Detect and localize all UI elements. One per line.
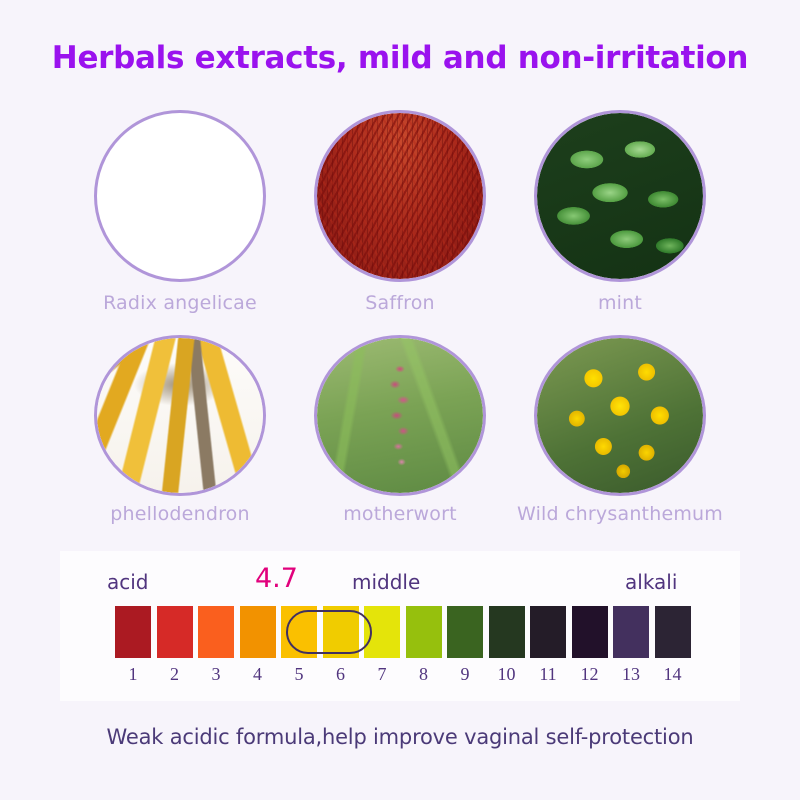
herb-item-radix-angelicae[interactable]: Radix angelicae <box>70 110 290 335</box>
herb-item-mint[interactable]: mint <box>510 110 730 335</box>
ph-scale-card: acid 4.7 middle alkali 12345678910111213… <box>60 551 740 701</box>
herb-item-phellodendron[interactable]: phellodendron <box>70 335 290 525</box>
pink-motherwort-flower-spike-image <box>317 338 483 493</box>
herb-item-wild-chrysanthemum[interactable]: Wild chrysanthemum <box>510 335 730 525</box>
herb-label: Radix angelicae <box>103 292 257 314</box>
herb-label: phellodendron <box>110 503 250 525</box>
page-title: Herbals extracts, mild and non-irritatio… <box>0 40 800 76</box>
green-mint-leaves-image <box>537 113 703 279</box>
ph-color-strip <box>115 606 693 658</box>
ph-swatch-14[interactable] <box>655 606 691 658</box>
herb-image-circle[interactable] <box>94 335 266 496</box>
ph-swatch-2[interactable] <box>157 606 193 658</box>
herb-image-circle[interactable] <box>94 110 266 282</box>
ph-swatch-4[interactable] <box>240 606 276 658</box>
ph-number-13: 13 <box>613 664 649 690</box>
ph-number-4: 4 <box>240 664 276 690</box>
dried-angelica-root-slices-image <box>97 113 263 279</box>
ph-number-7: 7 <box>364 664 400 690</box>
yellow-wild-chrysanthemum-flowers-image <box>537 338 703 493</box>
ph-swatch-11[interactable] <box>530 606 566 658</box>
ph-selection-ring <box>286 610 372 654</box>
ph-scale-legend: acid 4.7 middle alkali <box>60 567 740 597</box>
ph-swatch-3[interactable] <box>198 606 234 658</box>
red-saffron-threads-image <box>317 113 483 279</box>
herb-label: Saffron <box>365 292 435 314</box>
ph-value-readout: 4.7 <box>255 563 298 594</box>
ph-swatch-13[interactable] <box>613 606 649 658</box>
yellow-phellodendron-bark-strips-image <box>97 338 263 493</box>
ph-swatch-10[interactable] <box>489 606 525 658</box>
herb-label: mint <box>598 292 642 314</box>
ph-number-5: 5 <box>281 664 317 690</box>
ph-label-alkali: alkali <box>625 570 677 594</box>
ph-swatch-1[interactable] <box>115 606 151 658</box>
ph-number-10: 10 <box>489 664 525 690</box>
ph-label-middle: middle <box>352 570 420 594</box>
ph-number-8: 8 <box>406 664 442 690</box>
ph-number-3: 3 <box>198 664 234 690</box>
ph-number-6: 6 <box>323 664 359 690</box>
ph-number-axis: 1234567891011121314 <box>115 664 693 690</box>
ph-number-12: 12 <box>572 664 608 690</box>
ph-label-acid: acid <box>107 570 149 594</box>
ph-number-11: 11 <box>530 664 566 690</box>
herb-image-circle[interactable] <box>534 110 706 282</box>
herb-item-saffron[interactable]: Saffron <box>290 110 510 335</box>
herb-grid: Radix angelicae Saffron mint phellodendr… <box>70 110 730 525</box>
herb-image-circle[interactable] <box>314 110 486 282</box>
footer-caption: Weak acidic formula,help improve vaginal… <box>0 725 800 749</box>
herb-image-circle[interactable] <box>314 335 486 496</box>
ph-number-1: 1 <box>115 664 151 690</box>
ph-swatch-8[interactable] <box>406 606 442 658</box>
ph-number-9: 9 <box>447 664 483 690</box>
herb-image-circle[interactable] <box>534 335 706 496</box>
ph-number-14: 14 <box>655 664 691 690</box>
herb-label: motherwort <box>343 503 457 525</box>
herb-label: Wild chrysanthemum <box>517 503 723 525</box>
ph-swatch-9[interactable] <box>447 606 483 658</box>
ph-number-2: 2 <box>157 664 193 690</box>
ph-swatch-12[interactable] <box>572 606 608 658</box>
herb-item-motherwort[interactable]: motherwort <box>290 335 510 525</box>
